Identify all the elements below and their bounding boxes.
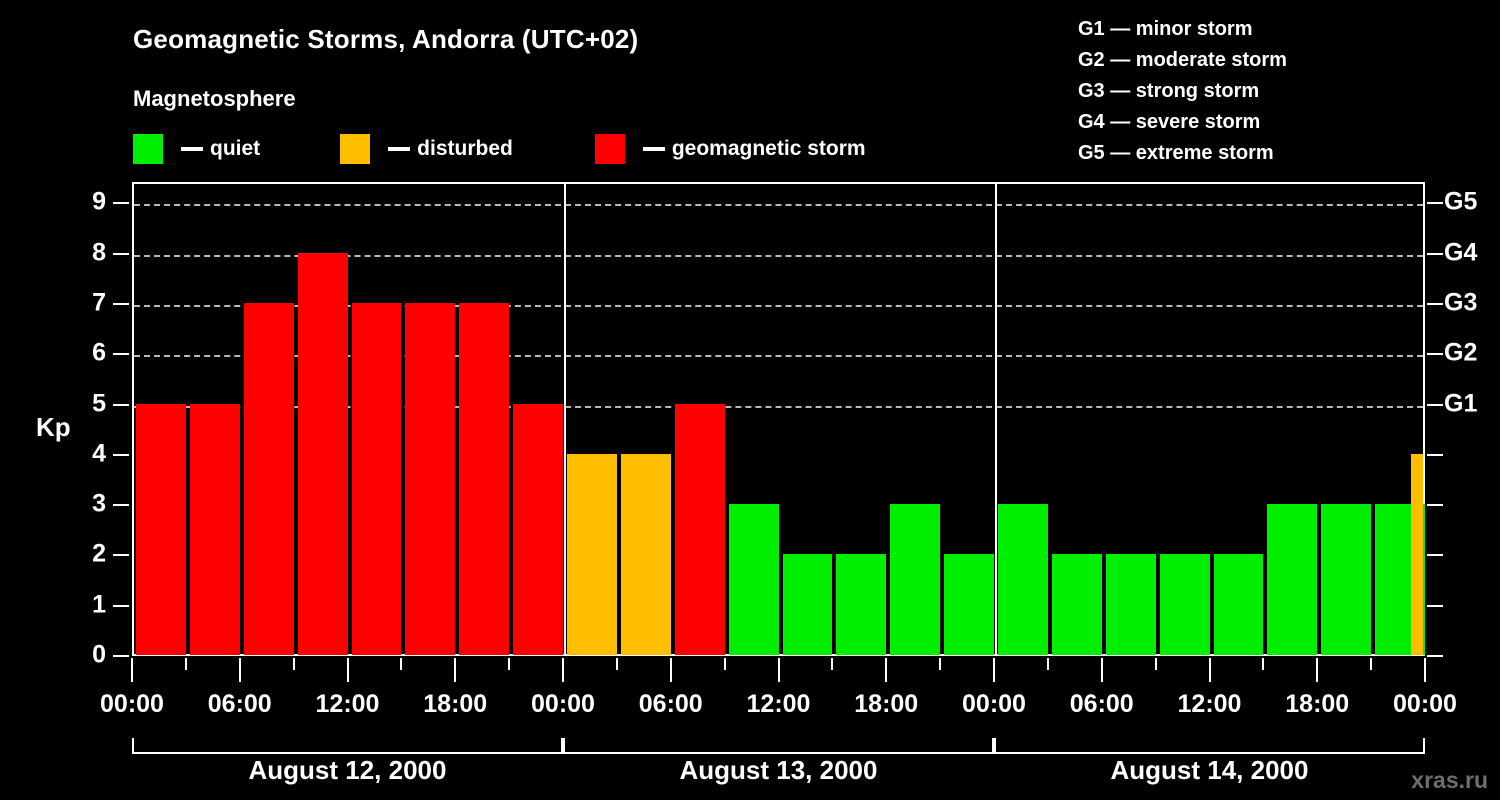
x-tick-minor: [400, 658, 402, 670]
g-axis-tick-mark-0: [1427, 655, 1443, 657]
bar: [352, 303, 402, 655]
bar: [513, 404, 563, 656]
y-tick-label-1: 1: [76, 592, 106, 617]
y-tick-mark-6: [113, 353, 129, 355]
x-tick-major: [1316, 658, 1318, 682]
g-axis-labels: G1G2G3G4G5: [1444, 182, 1500, 656]
legend-entry-quiet: quiet: [133, 134, 260, 164]
g-tick-label-G2: G2: [1444, 341, 1477, 366]
y-tick-label-2: 2: [76, 542, 106, 567]
x-tick-label: 12:00: [316, 690, 380, 719]
gridline-kp-9: [134, 204, 1423, 206]
day-label: August 12, 2000: [132, 755, 563, 786]
x-tick-major: [1101, 658, 1103, 682]
x-tick-major: [131, 658, 133, 682]
y-axis-title: Kp: [36, 412, 71, 443]
day-bracket: [563, 738, 994, 754]
y-tick-label-6: 6: [76, 341, 106, 366]
x-tick-minor: [1370, 658, 1372, 670]
bar: [1321, 504, 1371, 655]
x-tick-major: [1209, 658, 1211, 682]
x-tick-label: 06:00: [208, 690, 272, 719]
g-axis-tick-mark-8: [1427, 253, 1443, 255]
y-tick-mark-4: [113, 454, 129, 456]
bar: [244, 303, 294, 655]
bar: [1214, 554, 1264, 655]
g-legend-row-5: G5 — extreme storm: [1078, 138, 1287, 169]
g-axis-tick-mark-5: [1427, 404, 1443, 406]
day-bracket: [132, 738, 563, 754]
legend-dash-icon: [388, 147, 410, 151]
y-tick-label-0: 0: [76, 643, 106, 668]
x-tick-minor: [1155, 658, 1157, 670]
bar: [405, 303, 455, 655]
x-tick-minor: [508, 658, 510, 670]
geomagnetic-storm-chart: Geomagnetic Storms, Andorra (UTC+02) Mag…: [0, 0, 1500, 800]
legend-entry-disturbed: disturbed: [340, 134, 513, 164]
y-tick-label-8: 8: [76, 240, 106, 265]
y-tick-mark-1: [113, 605, 129, 607]
y-tick-label-5: 5: [76, 391, 106, 416]
x-tick-label: 18:00: [423, 690, 487, 719]
g-axis-tick-mark-2: [1427, 554, 1443, 556]
x-tick-label: 12:00: [747, 690, 811, 719]
bar: [459, 303, 509, 655]
bar: [675, 404, 725, 656]
x-tick-minor: [939, 658, 941, 670]
x-tick-major: [670, 658, 672, 682]
x-tick-label: 00:00: [1393, 690, 1457, 719]
x-tick-major: [454, 658, 456, 682]
y-tick-label-7: 7: [76, 290, 106, 315]
x-tick-major: [993, 658, 995, 682]
legend-label-text: disturbed: [417, 137, 513, 161]
y-tick-mark-8: [113, 253, 129, 255]
legend-swatch-quiet-icon: [133, 134, 163, 164]
day-divider: [564, 184, 566, 654]
x-tick-major: [885, 658, 887, 682]
plot-area: [134, 184, 1423, 654]
g-legend-row-3: G3 — strong storm: [1078, 76, 1287, 107]
plot-frame: [132, 182, 1425, 656]
g-axis-tick-mark-6: [1427, 353, 1443, 355]
x-tick-label: 00:00: [100, 690, 164, 719]
bar: [1267, 504, 1317, 655]
bar: [567, 454, 617, 655]
g-axis-tick-mark-3: [1427, 504, 1443, 506]
bar: [1052, 554, 1102, 655]
legend-dash-icon: [181, 147, 203, 151]
bar: [729, 504, 779, 655]
bar: [836, 554, 886, 655]
g-legend-row-2: G2 — moderate storm: [1078, 45, 1287, 76]
day-bracket: [994, 738, 1425, 754]
y-tick-label-9: 9: [76, 190, 106, 215]
x-tick-minor: [185, 658, 187, 670]
g-legend-row-4: G4 — severe storm: [1078, 107, 1287, 138]
g-scale-legend: G1 — minor stormG2 — moderate stormG3 — …: [1078, 14, 1287, 169]
g-axis-tick-mark-4: [1427, 454, 1443, 456]
g-axis-tick-mark-9: [1427, 202, 1443, 204]
x-tick-minor: [1262, 658, 1264, 670]
x-tick-label: 12:00: [1178, 690, 1242, 719]
bar: [190, 404, 240, 656]
x-tick-minor: [1047, 658, 1049, 670]
y-tick-label-4: 4: [76, 441, 106, 466]
y-tick-mark-0: [113, 655, 129, 657]
x-tick-major: [778, 658, 780, 682]
g-tick-label-G1: G1: [1444, 391, 1477, 416]
x-tick-label: 18:00: [854, 690, 918, 719]
bar: [1160, 554, 1210, 655]
g-axis-tick-mark-7: [1427, 303, 1443, 305]
g-tick-label-G3: G3: [1444, 290, 1477, 315]
legend-swatch-geomagnetic-storm-icon: [595, 134, 625, 164]
y-tick-mark-5: [113, 404, 129, 406]
subsystem-label: Magnetosphere: [133, 86, 296, 112]
x-tick-label: 06:00: [1070, 690, 1134, 719]
y-tick-mark-7: [113, 303, 129, 305]
bar: [783, 554, 833, 655]
x-tick-minor: [724, 658, 726, 670]
bar: [1106, 554, 1156, 655]
x-tick-major: [562, 658, 564, 682]
legend-swatch-disturbed-icon: [340, 134, 370, 164]
bar: [944, 554, 994, 655]
y-tick-mark-3: [113, 504, 129, 506]
x-tick-label: 06:00: [639, 690, 703, 719]
legend-entry-geomagnetic-storm: geomagnetic storm: [595, 134, 866, 164]
bar: [298, 253, 348, 655]
g-legend-row-1: G1 — minor storm: [1078, 14, 1287, 45]
day-label: August 14, 2000: [994, 755, 1425, 786]
x-tick-major: [1424, 658, 1426, 682]
g-tick-label-G4: G4: [1444, 240, 1477, 265]
day-label: August 13, 2000: [563, 755, 994, 786]
x-tick-major: [347, 658, 349, 682]
y-tick-mark-2: [113, 554, 129, 556]
color-legend: quietdisturbedgeomagnetic storm: [133, 133, 866, 165]
page-title: Geomagnetic Storms, Andorra (UTC+02): [133, 24, 638, 55]
g-tick-label-G5: G5: [1444, 190, 1477, 215]
legend-label-text: quiet: [210, 137, 260, 161]
x-tick-label: 00:00: [962, 690, 1026, 719]
x-tick-label: 00:00: [531, 690, 595, 719]
day-divider: [995, 184, 997, 654]
x-tick-minor: [293, 658, 295, 670]
legend-dash-icon: [643, 147, 665, 151]
g-axis-tick-mark-1: [1427, 605, 1443, 607]
x-tick-label: 18:00: [1285, 690, 1349, 719]
y-tick-label-3: 3: [76, 492, 106, 517]
bar: [621, 454, 671, 655]
x-tick-minor: [831, 658, 833, 670]
bar-trailing-partial: [1411, 454, 1423, 655]
y-tick-mark-9: [113, 202, 129, 204]
bar: [136, 404, 186, 656]
legend-label-text: geomagnetic storm: [672, 137, 866, 161]
x-tick-minor: [616, 658, 618, 670]
x-tick-major: [239, 658, 241, 682]
bar: [890, 504, 940, 655]
watermark: xras.ru: [1411, 767, 1488, 794]
bar: [998, 504, 1048, 655]
y-axis-labels: 0123456789: [70, 182, 106, 656]
